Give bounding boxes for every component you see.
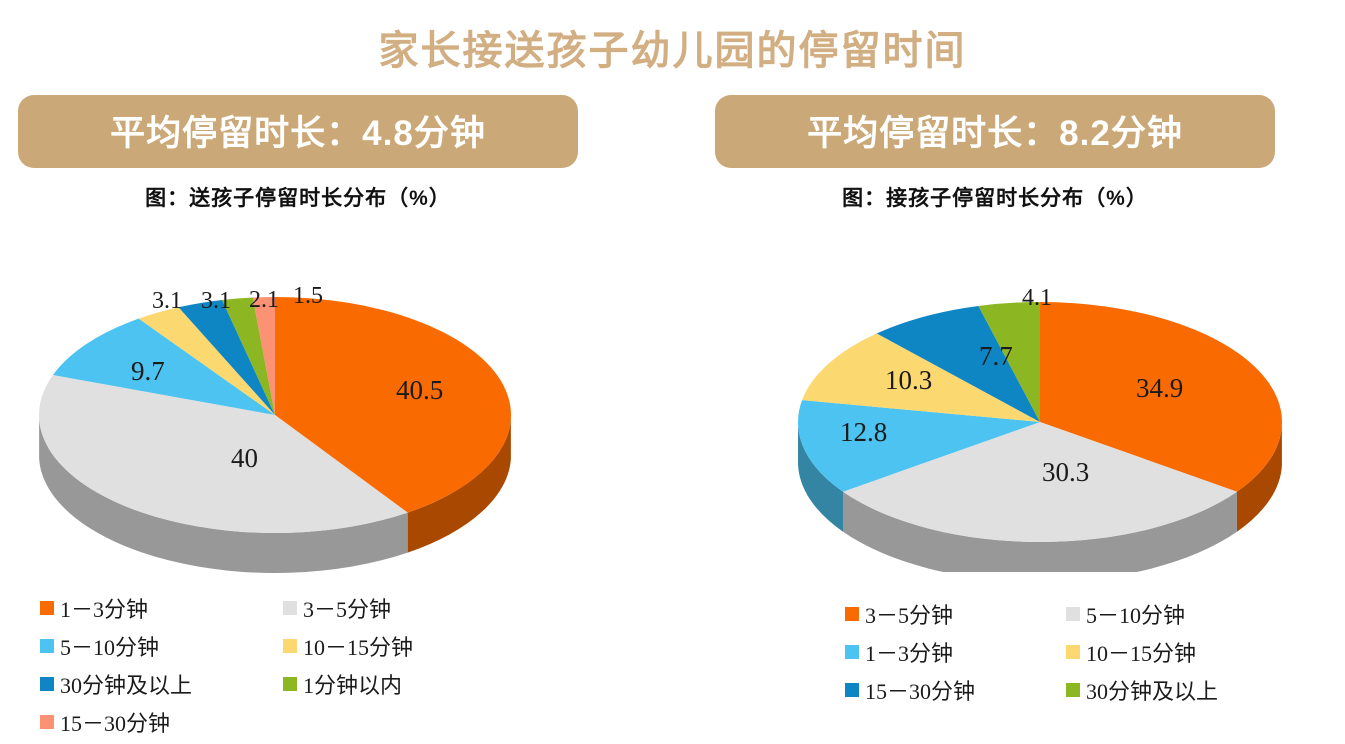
legend-swatch-icon [1066, 683, 1080, 697]
legend-swatch-icon [283, 601, 297, 615]
panel-drop-off: 平均停留时长：4.8分钟 图：送孩子停留时长分布（%） [0, 95, 660, 212]
legend-swatch-icon [40, 601, 54, 615]
legend-swatch-icon [40, 639, 54, 653]
legend-swatch-icon [283, 677, 297, 691]
slice-label-value: 30.3 [1042, 459, 1089, 486]
slice-label-value: 3.1 [152, 289, 182, 313]
legend-label: 30分钟及以上 [60, 668, 192, 700]
slice-label-value: 1.5 [293, 284, 323, 308]
legend-label: 15－30分钟 [865, 674, 975, 706]
legend-item[interactable]: 10－15分钟 [1066, 636, 1285, 668]
legend-item[interactable]: 3－5分钟 [845, 598, 1042, 630]
legend-label: 15－30分钟 [60, 706, 170, 738]
legend-swatch-icon [1066, 607, 1080, 621]
slice-label-value: 40.5 [396, 377, 443, 404]
legend-item[interactable]: 1分钟以内 [283, 668, 480, 700]
legend-item[interactable]: 5－10分钟 [40, 630, 259, 662]
legend-right: 3－5分钟5－10分钟1－3分钟10－15分钟15－30分钟30分钟及以上 [845, 598, 1285, 706]
legend-swatch-icon [845, 607, 859, 621]
slice-label-value: 12.8 [840, 419, 887, 446]
average-duration-banner-right: 平均停留时长：8.2分钟 [715, 95, 1275, 168]
legend-item[interactable]: 1－3分钟 [40, 592, 259, 624]
legend-swatch-icon [283, 639, 297, 653]
legend-label: 1分钟以内 [303, 668, 402, 700]
legend-swatch-icon [845, 683, 859, 697]
legend-swatch-icon [845, 645, 859, 659]
panel-pick-up: 平均停留时长：8.2分钟 图：接孩子停留时长分布（%） [690, 95, 1345, 212]
slice-label-value: 7.7 [979, 343, 1013, 370]
legend-label: 3－5分钟 [865, 598, 953, 630]
chart-caption-right: 图：接孩子停留时长分布（%） [715, 182, 1275, 212]
chart-caption-left: 图：送孩子停留时长分布（%） [18, 182, 578, 212]
legend-label: 5－10分钟 [60, 630, 159, 662]
legend-swatch-icon [40, 715, 54, 729]
average-duration-banner-left: 平均停留时长：4.8分钟 [18, 95, 578, 168]
slice-label-value: 9.7 [131, 358, 165, 385]
pie-chart-left [20, 265, 580, 575]
pie-slices [39, 297, 511, 533]
legend-item[interactable]: 1－3分钟 [845, 636, 1042, 668]
legend-item[interactable]: 10－15分钟 [283, 630, 480, 662]
slice-label-value: 40 [231, 445, 258, 472]
legend-swatch-icon [1066, 645, 1080, 659]
page-title: 家长接送孩子幼儿园的停留时间 [0, 18, 1345, 76]
legend-label: 30分钟及以上 [1086, 674, 1218, 706]
slice-label-value: 3.1 [201, 289, 231, 313]
legend-left: 1－3分钟3－5分钟5－10分钟10－15分钟30分钟及以上1分钟以内15－30… [40, 592, 480, 738]
slice-label-value: 2.1 [249, 288, 279, 312]
legend-label: 5－10分钟 [1086, 598, 1185, 630]
slice-label-value: 4.1 [1022, 286, 1052, 310]
legend-item[interactable]: 30分钟及以上 [1066, 674, 1285, 706]
legend-item[interactable]: 3－5分钟 [283, 592, 480, 624]
legend-swatch-icon [40, 677, 54, 691]
legend-item[interactable]: 15－30分钟 [40, 706, 259, 738]
legend-label: 1－3分钟 [60, 592, 148, 624]
legend-item[interactable]: 5－10分钟 [1066, 598, 1285, 630]
legend-label: 3－5分钟 [303, 592, 391, 624]
legend-item[interactable]: 15－30分钟 [845, 674, 1042, 706]
slice-label-value: 34.9 [1136, 375, 1183, 402]
legend-label: 1－3分钟 [865, 636, 953, 668]
legend-item[interactable]: 30分钟及以上 [40, 668, 259, 700]
pie-svg [20, 265, 580, 575]
slice-label-value: 10.3 [885, 367, 932, 394]
legend-label: 10－15分钟 [303, 630, 413, 662]
legend-label: 10－15分钟 [1086, 636, 1196, 668]
